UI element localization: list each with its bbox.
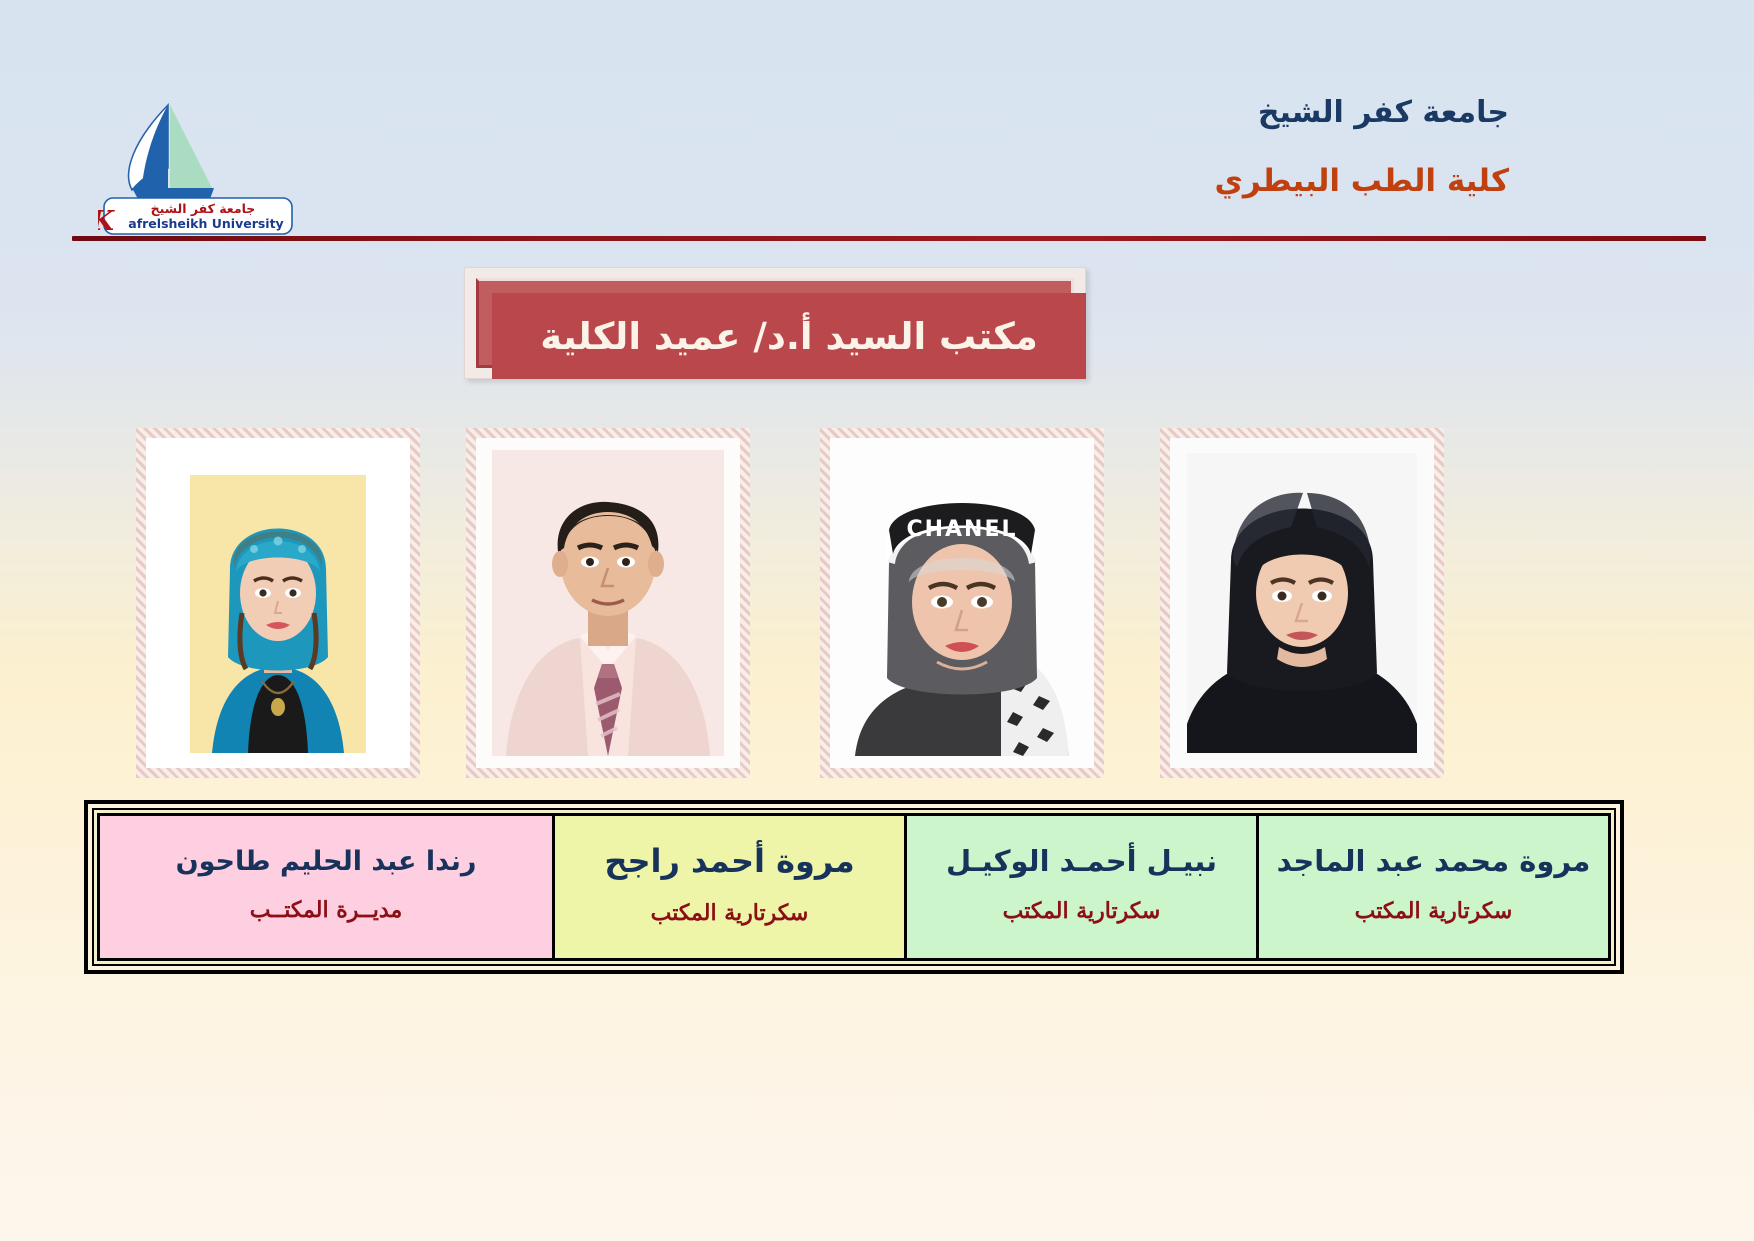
names-band-inner: مروة محمد عبد الماجد سكرتارية المكتب نبي…: [97, 813, 1611, 961]
person-card-1[interactable]: مروة محمد عبد الماجد سكرتارية المكتب: [1256, 816, 1608, 958]
names-band: مروة محمد عبد الماجد سكرتارية المكتب نبي…: [84, 800, 1624, 974]
institution-titles: جامعة كفر الشيخ كلية الطب البيطري: [1215, 98, 1509, 197]
person-role-2: سكرتارية المكتب: [1003, 898, 1161, 924]
title-banner: مكتب السيد أ.د/ عميد الكلية: [464, 267, 1086, 379]
svg-text:afrelsheikh University: afrelsheikh University: [128, 216, 283, 231]
portrait-image-4: [1170, 438, 1434, 768]
person-name-2: نبيـل أحمـد الوكيـل: [946, 846, 1217, 878]
svg-text:K: K: [98, 206, 116, 237]
person-card-3[interactable]: مروة أحمد راجح سكرتارية المكتب: [552, 816, 904, 958]
portrait-woman-black-hijab-icon: [1187, 453, 1417, 753]
person-card-2[interactable]: نبيـل أحمـد الوكيـل سكرتارية المكتب: [904, 816, 1256, 958]
university-name: جامعة كفر الشيخ: [1215, 98, 1509, 128]
portrait-image-2: [476, 438, 740, 768]
svg-text:جامعة كفر الشيخ: جامعة كفر الشيخ: [151, 201, 256, 216]
svg-text:CHANEL: CHANEL: [906, 517, 1017, 542]
portrait-image-3: CHANEL: [830, 438, 1094, 768]
portrait-woman-teal-headscarf-icon: [178, 453, 378, 753]
person-card-4[interactable]: رندا عبد الحليم طاحون مديــرة المكتــب: [100, 816, 552, 958]
person-role-1: سكرتارية المكتب: [1355, 898, 1513, 924]
portrait-frame-2: [466, 428, 750, 778]
portrait-frame-1: [136, 428, 420, 778]
university-logo: جامعة كفر الشيخ afrelsheikh University K: [98, 78, 298, 238]
portrait-man-pink-shirt-tie-icon: [492, 450, 724, 756]
names-band-middle-border: مروة محمد عبد الماجد سكرتارية المكتب نبي…: [92, 808, 1616, 966]
portrait-frame-3: CHANEL: [820, 428, 1104, 778]
portrait-woman-white-patterned-hijab-icon: CHANEL: [851, 450, 1073, 756]
header-divider-rule: [72, 236, 1706, 241]
portrait-frame-4: [1160, 428, 1444, 778]
faculty-name: كلية الطب البيطري: [1215, 166, 1509, 197]
page-header: جامعة كفر الشيخ afrelsheikh University K…: [0, 0, 1754, 280]
sailboat-logo-icon: جامعة كفر الشيخ afrelsheikh University K: [98, 78, 298, 238]
portrait-row: CHANEL: [0, 428, 1754, 784]
person-name-1: مروة محمد عبد الماجد: [1277, 846, 1591, 878]
person-name-3: مروة أحمد راجح: [604, 844, 854, 879]
page-title: مكتب السيد أ.د/ عميد الكلية: [540, 315, 1037, 358]
title-banner-inner: مكتب السيد أ.د/ عميد الكلية: [492, 293, 1086, 379]
person-role-4: مديــرة المكتــب: [250, 897, 403, 923]
person-name-4: رندا عبد الحليم طاحون: [176, 847, 477, 877]
title-banner-bevel: مكتب السيد أ.د/ عميد الكلية: [476, 278, 1074, 368]
person-role-3: سكرتارية المكتب: [651, 900, 809, 926]
portrait-image-1: [146, 438, 410, 768]
